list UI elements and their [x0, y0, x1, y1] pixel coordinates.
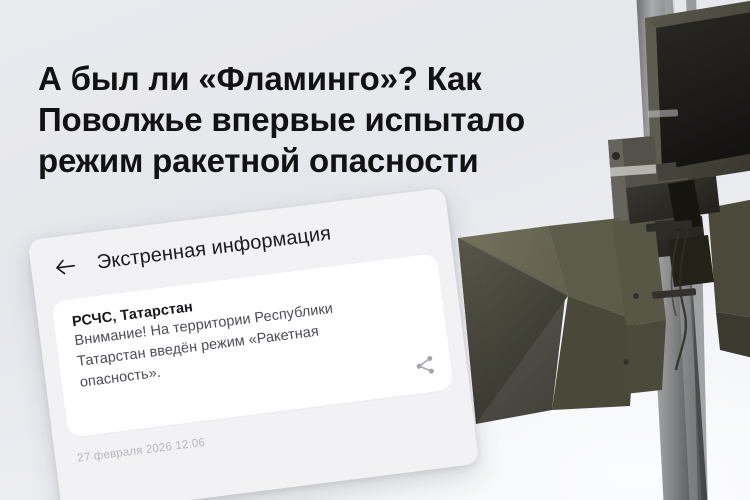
back-arrow-icon[interactable] [52, 254, 79, 279]
article-cover: А был ли «Фламинго»? Как Поволжье впервы… [0, 0, 750, 500]
emergency-alert-card[interactable]: Экстренная информация РСЧС, Татарстан Вн… [28, 188, 480, 500]
siren-horn-lower [458, 196, 750, 424]
alert-card-title: Экстренная информация [96, 222, 333, 274]
share-icon[interactable] [413, 353, 438, 378]
page-headline: А был ли «Фламинго»? Как Поволжье впервы… [38, 58, 578, 181]
